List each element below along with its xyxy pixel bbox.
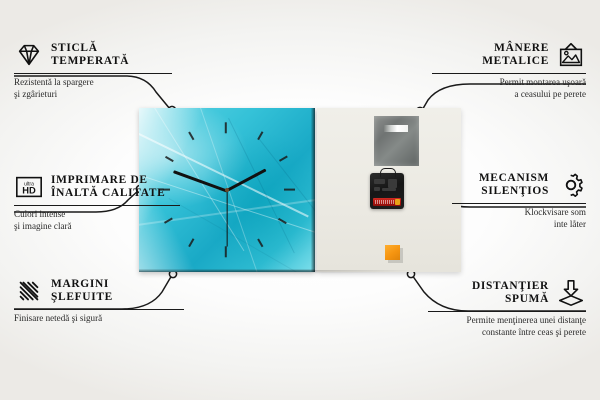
feature-edges: MARGINI ŞLEFUITE Finisare netedă şi sigu… bbox=[14, 276, 184, 325]
product-photo bbox=[139, 108, 461, 272]
feature-rule bbox=[14, 309, 184, 310]
feature-title: DISTANŢIER SPUMĂ bbox=[472, 280, 549, 306]
diamond-icon bbox=[14, 40, 44, 70]
feature-title: MARGINI ŞLEFUITE bbox=[51, 278, 113, 304]
feature-subtitle: Klockvisare som inte låter bbox=[452, 207, 586, 229]
wall-mount-picture-icon bbox=[556, 40, 586, 70]
feature-subtitle: Finisare netedă şi sigură bbox=[14, 313, 184, 324]
clock-tick bbox=[189, 132, 195, 141]
clock-tick bbox=[189, 239, 195, 248]
ultra-hd-bottom-label: HD bbox=[22, 186, 36, 196]
feature-print: ultra HD IMPRIMARE DE ÎNALTĂ CALITATE Cu… bbox=[14, 172, 180, 232]
feature-subtitle: Permit montarea uşoară a ceasului pe per… bbox=[432, 77, 586, 99]
feature-subtitle: Permite menţinerea unei distanţe constan… bbox=[428, 315, 586, 337]
gear-icon bbox=[556, 170, 586, 200]
product-drop-shadow bbox=[139, 270, 461, 275]
clock-second-hand bbox=[226, 191, 227, 247]
feature-glass: STICLĂ TEMPERATĂ Rezistentă la spargere … bbox=[14, 40, 172, 100]
clock-tick bbox=[165, 156, 174, 162]
clock-tick bbox=[279, 156, 288, 162]
hanger-slot bbox=[384, 125, 408, 132]
feature-rule bbox=[432, 73, 586, 74]
ultra-hd-icon: ultra HD bbox=[14, 172, 44, 202]
feature-mechanism: MECANISM SILENŢIOS Klockvisare som inte … bbox=[452, 170, 586, 230]
quartz-mechanism-box bbox=[370, 173, 404, 209]
foam-spacer-arrow-icon bbox=[556, 278, 586, 308]
clock-tick bbox=[258, 132, 264, 141]
mechanism-hanger-loop bbox=[380, 168, 396, 177]
clock-tick bbox=[225, 246, 227, 257]
clock-tick bbox=[258, 239, 264, 248]
clock-back-panel bbox=[317, 108, 461, 272]
feature-rule bbox=[14, 205, 180, 206]
glass-edge-right bbox=[311, 108, 315, 272]
battery-label bbox=[375, 200, 394, 204]
feature-title: IMPRIMARE DE ÎNALTĂ CALITATE bbox=[51, 174, 165, 200]
clock-tick bbox=[225, 122, 227, 133]
infographic-canvas: STICLĂ TEMPERATĂ Rezistentă la spargere … bbox=[0, 0, 600, 400]
feature-title: MÂNERE METALICE bbox=[482, 42, 549, 68]
foam-spacer-pad bbox=[385, 245, 400, 260]
battery bbox=[373, 198, 401, 206]
polished-edges-icon bbox=[14, 276, 44, 306]
feature-title: MECANISM SILENŢIOS bbox=[479, 172, 549, 198]
feature-rule bbox=[452, 203, 586, 204]
feature-spacer: DISTANŢIER SPUMĂ Permite menţinerea unei… bbox=[428, 278, 586, 338]
feature-subtitle: Rezistentă la spargere şi zgârieturi bbox=[14, 77, 172, 99]
battery-terminal bbox=[395, 199, 400, 205]
feature-hangers: MÂNERE METALICE Permit montarea uşoară a… bbox=[432, 40, 586, 100]
feature-rule bbox=[14, 73, 172, 74]
feature-subtitle: Culori intense şi imagine clară bbox=[14, 209, 180, 231]
feature-rule bbox=[428, 311, 586, 312]
metal-hanger-plate bbox=[374, 116, 419, 166]
feature-title: STICLĂ TEMPERATĂ bbox=[51, 42, 129, 68]
clock-tick bbox=[284, 189, 295, 191]
clock-center-hub bbox=[225, 188, 229, 192]
